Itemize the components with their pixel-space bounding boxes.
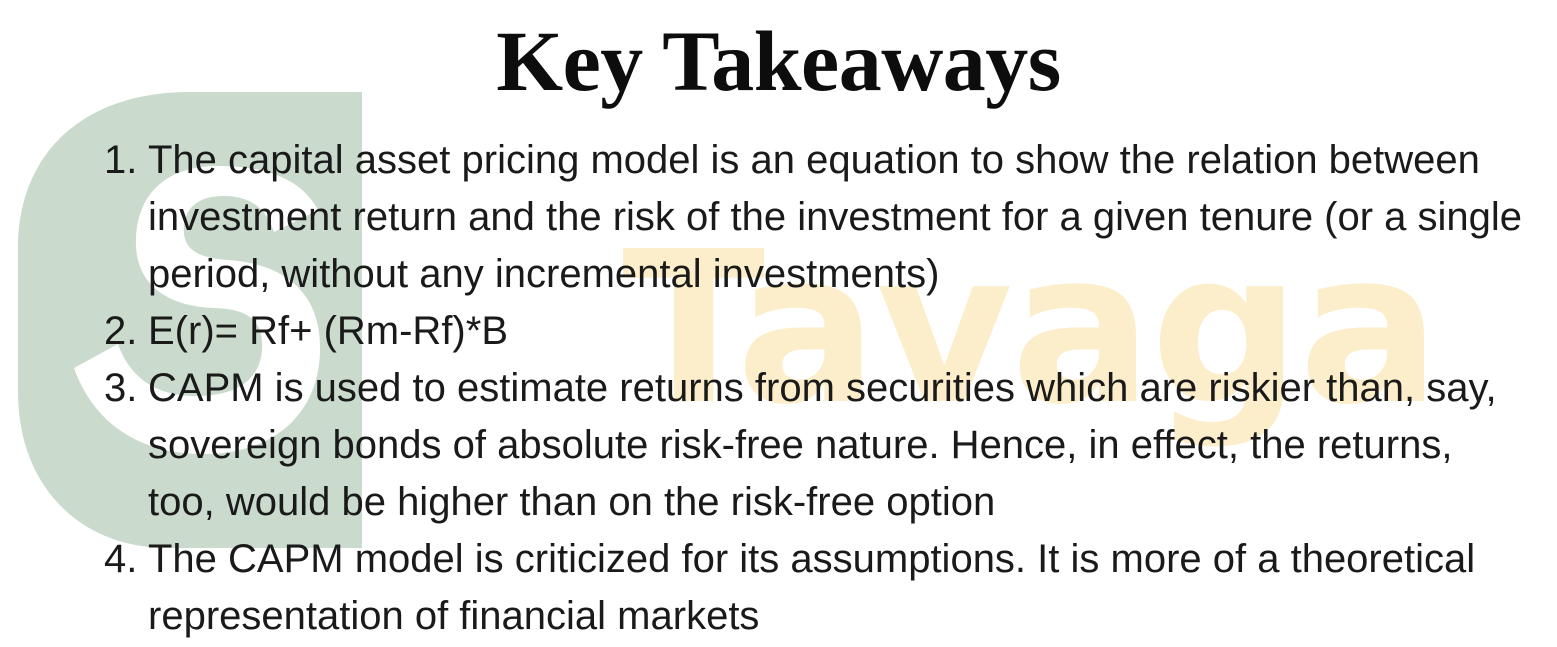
list-item: 1. The capital asset pricing model is an… — [104, 132, 1524, 303]
slide-canvas: Tavaga Key Takeaways 1. The capital asse… — [0, 0, 1557, 647]
page-title: Key Takeaways — [0, 16, 1557, 106]
list-item-number: 2. — [104, 303, 148, 360]
list-item: 2. E(r)= Rf+ (Rm-Rf)*B — [104, 303, 1524, 360]
list-item-number: 3. — [104, 360, 148, 417]
list-item-text: CAPM is used to estimate returns from se… — [148, 360, 1524, 531]
list-item: 3. CAPM is used to estimate returns from… — [104, 360, 1524, 531]
list-item-text: E(r)= Rf+ (Rm-Rf)*B — [148, 303, 1524, 360]
list-item-text: The capital asset pricing model is an eq… — [148, 132, 1524, 303]
list-item-number: 1. — [104, 132, 148, 189]
takeaways-list: 1. The capital asset pricing model is an… — [104, 132, 1524, 645]
list-item-text: The CAPM model is criticized for its ass… — [148, 531, 1524, 645]
list-item-number: 4. — [104, 531, 148, 588]
list-item: 4. The CAPM model is criticized for its … — [104, 531, 1524, 645]
